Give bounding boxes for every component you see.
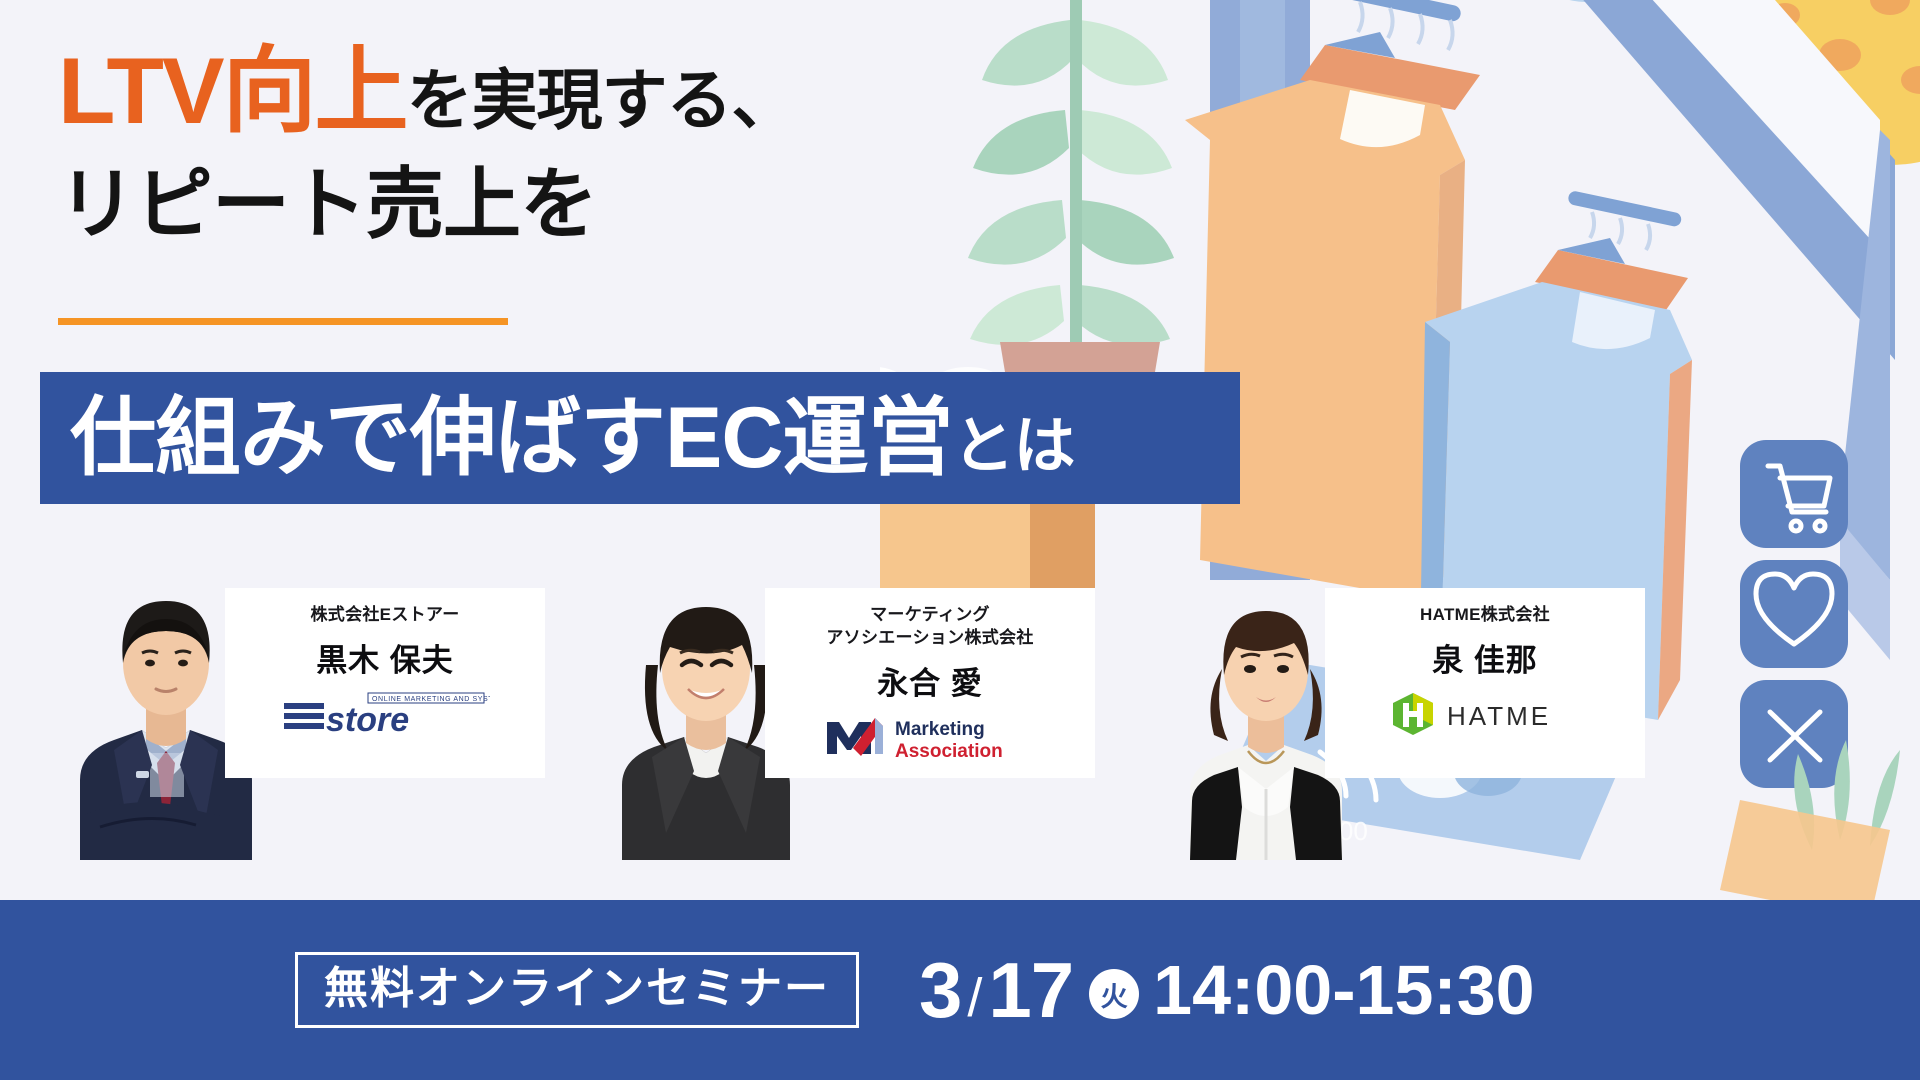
headline-line-1: LTV向上を実現する、 <box>58 36 797 147</box>
speaker-1-name: 黒木 保夫 <box>316 635 454 680</box>
speaker-card-2: マーケティング アソシエーション株式会社 永合 愛 Marketing Asso… <box>570 560 1170 860</box>
headline-line-1-rest: を実現する、 <box>407 63 797 137</box>
svg-text:ONLINE MARKETING AND SYSTEMS: ONLINE MARKETING AND SYSTEMS <box>372 696 490 703</box>
event-day: 17 <box>988 951 1073 1029</box>
headline-block: LTV向上を実現する、 リピート売上を <box>58 36 797 252</box>
title-band-main: 仕組みで伸ばすEC運営 <box>70 390 952 486</box>
svg-text:Marketing: Marketing <box>895 719 985 740</box>
svg-text:HATME: HATME <box>1447 701 1551 731</box>
speaker-2-info-card: マーケティング アソシエーション株式会社 永合 愛 Marketing Asso… <box>765 588 1095 778</box>
svg-text:store: store <box>326 701 409 737</box>
speaker-2-org-line-2: アソシエーション株式会社 <box>826 627 1033 650</box>
date-separator: / <box>967 971 982 1025</box>
marketing-association-logo: Marketing Association <box>823 713 1038 761</box>
webinar-banner: 0000 LTV向上を実現する、 リピート売上を 仕組みで伸ばすEC運営とは <box>0 0 1920 1080</box>
title-band-tail: とは <box>952 412 1074 481</box>
headline-line-2: リピート売上を <box>58 157 797 252</box>
speaker-3-org: HATME株式会社 <box>1420 604 1550 627</box>
speaker-2-org-line-1: マーケティング <box>826 604 1033 627</box>
headline-accent: LTV向上 <box>58 38 407 143</box>
speaker-2-name: 永合 愛 <box>877 658 983 703</box>
event-time: 14:00-15:30 <box>1153 955 1534 1025</box>
speaker-1-info-card: 株式会社Eストアー 黒木 保夫 store ONLINE MARKETING A… <box>225 588 545 778</box>
free-seminar-badge: 無料オンラインセミナー <box>295 952 859 1028</box>
speaker-1-org: 株式会社Eストアー <box>310 604 459 627</box>
event-month: 3 <box>919 951 961 1029</box>
speakers-row: 株式会社Eストアー 黒木 保夫 store ONLINE MARKETING A… <box>0 560 1920 860</box>
title-band-text: 仕組みで伸ばすEC運営とは <box>40 395 1074 481</box>
orange-underline-rule <box>58 318 508 325</box>
footer-bar: 無料オンラインセミナー 3 / 17 火 14:00-15:30 <box>0 900 1920 1080</box>
estore-logo: store ONLINE MARKETING AND SYSTEMS <box>280 690 490 738</box>
headline-line-2-text: リピート売上を <box>58 160 597 248</box>
title-band: 仕組みで伸ばすEC運営とは <box>40 372 1240 504</box>
speaker-3-info-card: HATME株式会社 泉 佳那 HATME <box>1325 588 1645 778</box>
speaker-card-1: 株式会社Eストアー 黒木 保夫 store ONLINE MARKETING A… <box>30 560 630 860</box>
date-time-block: 3 / 17 火 14:00-15:30 <box>919 951 1535 1029</box>
event-weekday-badge: 火 <box>1089 969 1139 1019</box>
speaker-2-org: マーケティング アソシエーション株式会社 <box>826 604 1033 650</box>
speaker-3-name: 泉 佳那 <box>1432 635 1538 680</box>
hatme-logo: HATME <box>1385 690 1585 738</box>
svg-text:Association: Association <box>895 741 1003 762</box>
speaker-card-3: HATME株式会社 泉 佳那 HATME <box>1130 560 1730 860</box>
